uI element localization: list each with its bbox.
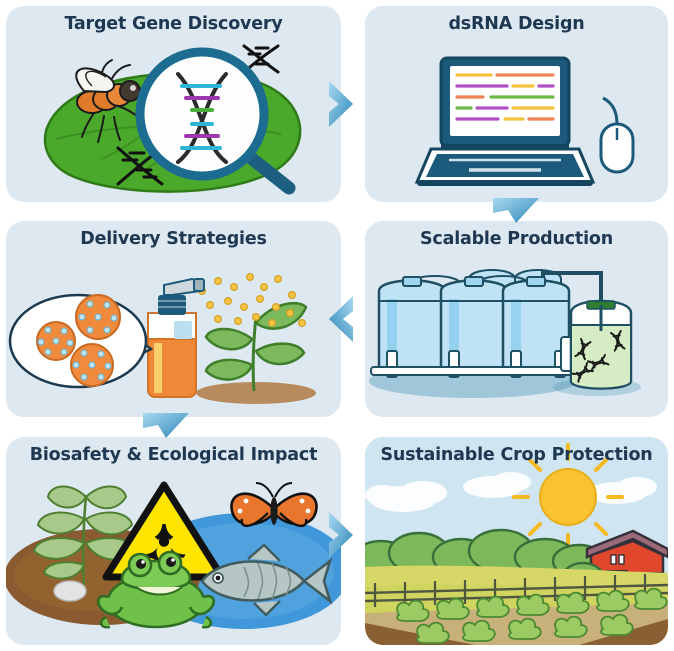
panel-dsrna-design[interactable]: dsRNA Design [365, 6, 668, 202]
panel-title: Delivery Strategies [6, 230, 341, 249]
arrow-down-icon-1 [490, 196, 542, 226]
panel-title: Scalable Production [365, 230, 668, 249]
art-sustainable-crop-protection [365, 437, 668, 645]
panel-sustainable-crop-protection[interactable]: Sustainable Crop Protection [365, 437, 668, 645]
art-delivery-strategies [6, 251, 341, 417]
panel-title: Sustainable Crop Protection [365, 446, 668, 465]
art-target-gene-discovery [6, 36, 341, 202]
panel-biosafety-ecological-impact[interactable]: Biosafety & Ecological Impact [6, 437, 341, 645]
panel-title: Target Gene Discovery [6, 15, 341, 34]
arrow-left-icon-1 [326, 293, 356, 345]
panel-title: dsRNA Design [365, 15, 668, 34]
panel-scalable-production[interactable]: Scalable Production [365, 221, 668, 417]
workflow-diagram: Target Gene Discovery [0, 0, 674, 651]
arrow-down-icon-2 [140, 411, 192, 441]
arrow-right-icon-1 [326, 78, 356, 130]
panel-title: Biosafety & Ecological Impact [6, 446, 341, 465]
panel-target-gene-discovery[interactable]: Target Gene Discovery [6, 6, 341, 202]
art-biosafety-ecological-impact [6, 467, 341, 645]
panel-delivery-strategies[interactable]: Delivery Strategies [6, 221, 341, 417]
arrow-right-icon-2 [326, 509, 356, 561]
art-dsrna-design [365, 36, 668, 202]
art-scalable-production [365, 251, 668, 417]
